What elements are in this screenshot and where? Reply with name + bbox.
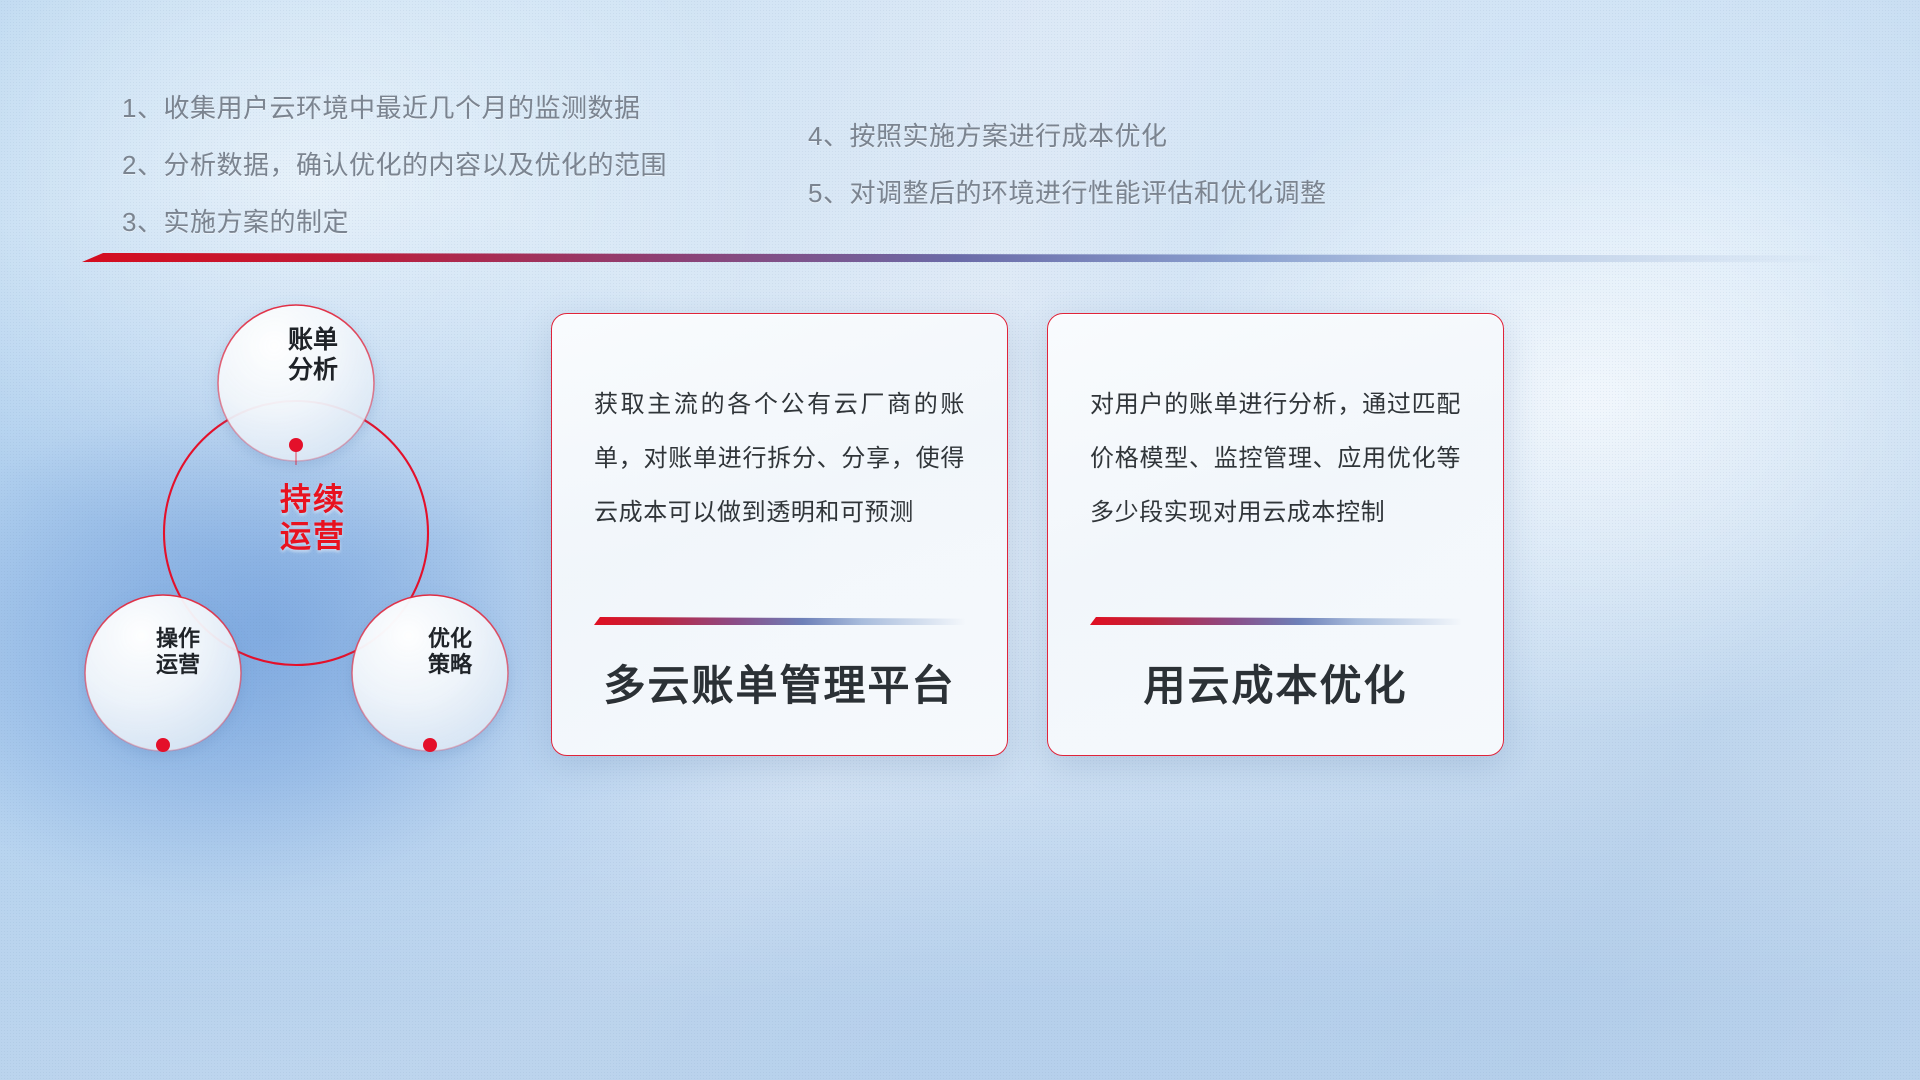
steps-left-column: 1、收集用户云环境中最近几个月的监测数据 2、分析数据，确认优化的内容以及优化的…	[122, 95, 667, 235]
card-title-1: 多云账单管理平台	[552, 652, 1007, 713]
venn-label-operations: 操作 运营	[88, 626, 268, 678]
feature-card-multicloud-billing[interactable]: 获取主流的各个公有云厂商的账单，对账单进行拆分、分享，使得云成本可以做到透明和可…	[551, 313, 1008, 756]
card-description-1: 获取主流的各个公有云厂商的账单，对账单进行拆分、分享，使得云成本可以做到透明和可…	[594, 378, 965, 539]
step-item-1: 1、收集用户云环境中最近几个月的监测数据	[122, 95, 667, 121]
venn-label-continuous-operation: 持续 运营	[78, 482, 548, 555]
venn-label-operations-line1: 操作	[88, 626, 268, 652]
venn-label-bill-analysis-line1: 账单	[78, 326, 548, 356]
card-body-1: 获取主流的各个公有云厂商的账单，对账单进行拆分、分享，使得云成本可以做到透明和可…	[552, 314, 1007, 539]
venn-node-bottom-right	[423, 738, 437, 752]
card-accent-rule-2	[1090, 617, 1462, 625]
card-title-2: 用云成本优化	[1048, 652, 1503, 713]
venn-label-continuous-operation-line1: 持续	[78, 482, 548, 519]
card-body-2: 对用户的账单进行分析，通过匹配价格模型、监控管理、应用优化等多少段实现对用云成本…	[1048, 314, 1503, 539]
card-accent-rule-1	[594, 617, 966, 625]
venn-diagram: 账单 分析 持续 运营 操作 运营 优化 策略	[78, 290, 548, 770]
step-item-3: 3、实施方案的制定	[122, 209, 667, 235]
venn-label-optimization-strategy: 优化 策略	[360, 626, 540, 678]
steps-right-column: 4、按照实施方案进行成本优化 5、对调整后的环境进行性能评估和优化调整	[808, 123, 1326, 206]
card-description-2: 对用户的账单进行分析，通过匹配价格模型、监控管理、应用优化等多少段实现对用云成本…	[1090, 378, 1461, 539]
step-item-4: 4、按照实施方案进行成本优化	[808, 123, 1326, 149]
venn-label-bill-analysis: 账单 分析	[78, 326, 548, 385]
venn-label-optimization-strategy-line2: 策略	[360, 652, 540, 678]
venn-label-continuous-operation-line2: 运营	[78, 519, 548, 556]
venn-label-optimization-strategy-line1: 优化	[360, 626, 540, 652]
venn-node-bottom-left	[156, 738, 170, 752]
venn-label-operations-line2: 运营	[88, 652, 268, 678]
step-item-2: 2、分析数据，确认优化的内容以及优化的范围	[122, 152, 667, 178]
step-item-5: 5、对调整后的环境进行性能评估和优化调整	[808, 180, 1326, 206]
venn-label-bill-analysis-line2: 分析	[78, 356, 548, 386]
feature-card-cloud-cost-optimization[interactable]: 对用户的账单进行分析，通过匹配价格模型、监控管理、应用优化等多少段实现对用云成本…	[1047, 313, 1504, 756]
